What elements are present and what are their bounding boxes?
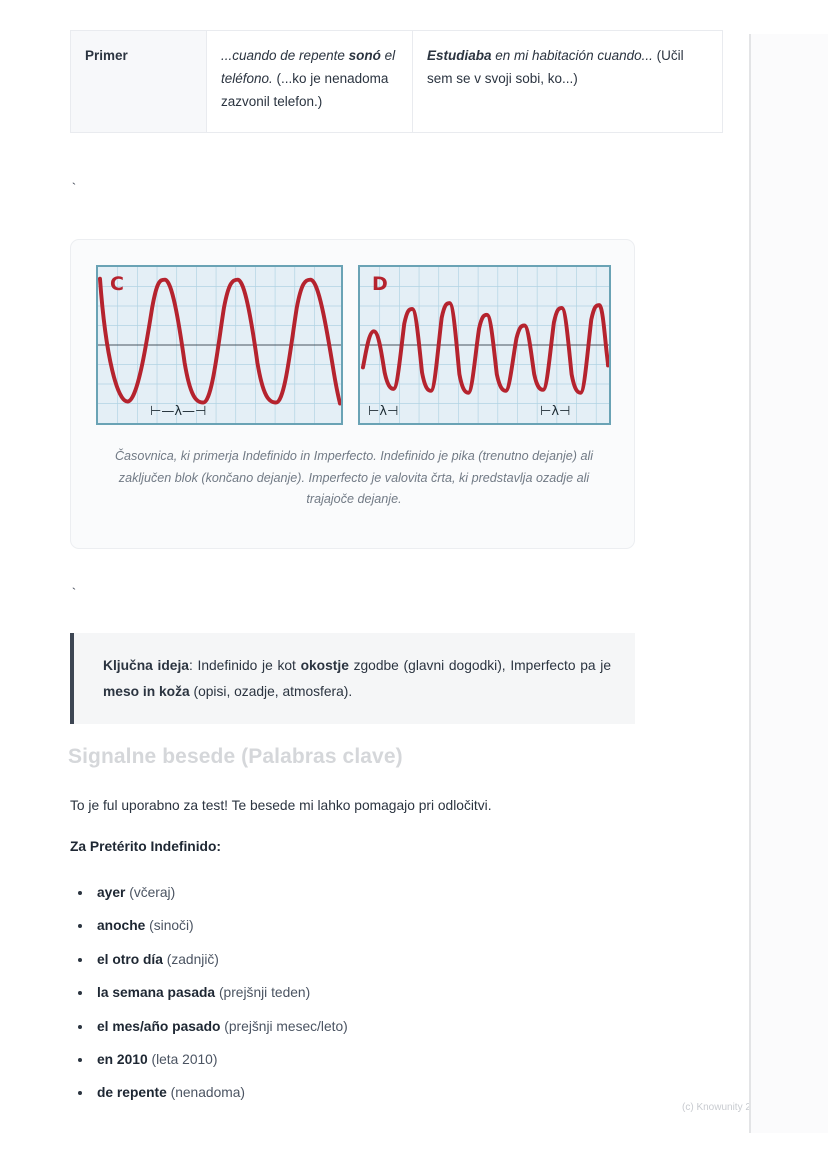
panel-letter-d: D [372,273,388,295]
wavelength-marker-d-left: ⊢λ⊣ [368,404,398,419]
comparison-table: Primer ...cuando de repente sonó el telé… [70,30,723,133]
key-idea-callout: Ključna ideja: Indefinido je kot okostje… [70,633,635,724]
figure-caption: Časovnica, ki primerja Indefinido in Imp… [99,446,609,511]
table-row-label: Primer [71,31,207,133]
signal-word-gloss: (prejšnji mesec/leto) [220,1019,347,1034]
comparison-table-wrapper: Primer ...cuando de repente sonó el telé… [70,30,635,133]
panel-letter-c: C [110,273,124,295]
list-item: el mes/año pasado (prejšnji mesec/leto) [70,1010,635,1043]
list-item: el otro día (zadnjič) [70,943,635,976]
signal-word-term: la semana pasada [97,985,215,1000]
text-run: en mi habitación cuando... [492,48,653,63]
text-run: : Indefinido je kot [189,658,301,673]
wavelength-marker-c: ⊢—λ—⊣ [150,404,206,419]
list-item: la semana pasada (prejšnji teden) [70,976,635,1009]
signal-word-gloss: (zadnjič) [163,952,219,967]
text-run: Ključna ideja [103,658,189,673]
text-run: okostje [301,658,349,673]
wave-panel-d: D ⊢λ⊣ ⊢λ⊣ [358,265,611,425]
signal-word-gloss: (sinoči) [145,918,193,933]
document-content-column: Primer ...cuando de repente sonó el telé… [0,0,749,1171]
text-run: (opisi, ozadje, atmosfera). [190,684,353,699]
page-right-rail[interactable] [749,34,828,1133]
signal-word-term: ayer [97,885,125,900]
signal-word-gloss: (nenadoma) [167,1085,245,1100]
signal-word-gloss: (leta 2010) [148,1052,218,1067]
page-title: Signalne besede (Palabras clave) [68,745,403,769]
signal-word-term: el mes/año pasado [97,1019,220,1034]
signal-word-term: el otro día [97,952,163,967]
signal-word-term: anoche [97,918,145,933]
text-run: meso in koža [103,684,190,699]
list-item: de repente (nenadoma) [70,1076,635,1109]
wave-curve-c [98,267,341,423]
signal-word-term: en 2010 [97,1052,148,1067]
list-item: en 2010 (leta 2010) [70,1043,635,1076]
wave-curve-d [360,267,609,423]
signal-word-gloss: (včeraj) [125,885,175,900]
stray-backtick-one: ` [70,182,78,195]
figure-card: C ⊢—λ—⊣ [70,239,635,549]
list-item: anoche (sinoči) [70,909,635,942]
wave-figure: C ⊢—λ—⊣ [96,265,611,425]
list-item: ayer (včeraj) [70,876,635,909]
signal-word-gloss: (prejšnji teden) [215,985,310,1000]
sublist-title: Za Pretérito Indefinido: [70,839,221,854]
wavelength-marker-d-right: ⊢λ⊣ [540,404,570,419]
stray-backtick-two: ` [70,587,78,600]
section-intro-text: To je ful uporabno za test! Te besede mi… [70,794,635,817]
table-row: Primer ...cuando de repente sonó el telé… [71,31,723,133]
text-run: ...cuando de repente [221,48,349,63]
table-cell-imperfecto: Estudiaba en mi habitación cuando... (Uč… [413,31,723,133]
text-run: Estudiaba [427,48,492,63]
text-run: sonó [349,48,381,63]
table-cell-indefinido: ...cuando de repente sonó el teléfono. (… [207,31,413,133]
signal-word-term: de repente [97,1085,167,1100]
signal-word-list: ayer (včeraj)anoche (sinoči)el otro día … [70,876,635,1110]
text-run: zgodbe (glavni dogodki), Imperfecto pa j… [349,658,611,673]
wave-panel-c: C ⊢—λ—⊣ [96,265,343,425]
table-body: Primer ...cuando de repente sonó el telé… [71,31,723,133]
